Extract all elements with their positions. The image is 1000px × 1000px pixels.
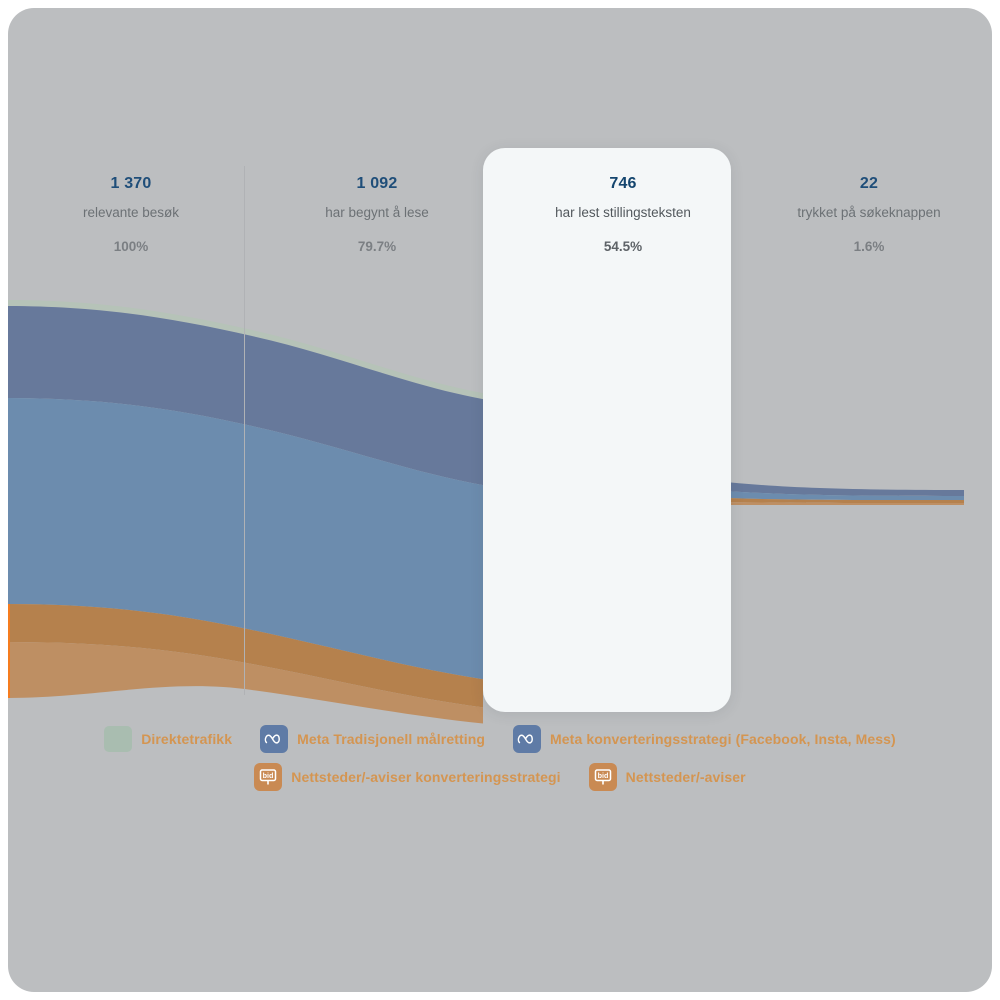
step-label: trykket på søkeknappen — [746, 204, 992, 222]
color-swatch-icon — [104, 726, 132, 752]
bid-icon: bid — [589, 763, 617, 791]
step-value: 1 370 — [8, 174, 254, 194]
step-value: 22 — [746, 174, 992, 194]
step-percent: 100% — [8, 238, 254, 256]
left-edge-accent — [8, 604, 10, 698]
funnel-step-3[interactable]: 746 har lest stillingsteksten 54.5% — [500, 166, 746, 276]
legend-label: Meta Tradisjonell målretting — [297, 731, 485, 747]
step-percent: 54.5% — [500, 238, 746, 256]
legend-item-meta-konvertering[interactable]: Meta konverteringsstrategi (Facebook, In… — [513, 725, 896, 753]
funnel-chart-panel: 1 370 relevante besøk 100% 1 092 har beg… — [8, 8, 992, 992]
step-value: 746 — [500, 174, 746, 194]
bid-icon: bid — [254, 763, 282, 791]
step-value: 1 092 — [254, 174, 500, 194]
step-label: har lest stillingsteksten — [500, 204, 746, 222]
chart-legend: Direktetrafikk Meta Tradisjonell målrett… — [8, 720, 992, 796]
legend-label: Nettsteder/-aviser konverteringsstrategi — [291, 769, 560, 785]
step-label: har begynt å lese — [254, 204, 500, 222]
meta-icon — [260, 725, 288, 753]
svg-text:bid: bid — [597, 771, 608, 780]
legend-row-1: Direktetrafikk Meta Tradisjonell målrett… — [8, 720, 992, 758]
legend-row-2: bid Nettsteder/-aviser konverteringsstra… — [8, 758, 992, 796]
legend-item-nettsteder-aviser[interactable]: bid Nettsteder/-aviser — [589, 763, 746, 791]
legend-label: Meta konverteringsstrategi (Facebook, In… — [550, 731, 896, 747]
legend-item-nettsteder-konvertering[interactable]: bid Nettsteder/-aviser konverteringsstra… — [254, 763, 560, 791]
step-percent: 79.7% — [254, 238, 500, 256]
step-percent: 1.6% — [746, 238, 992, 256]
legend-label: Nettsteder/-aviser — [626, 769, 746, 785]
step-label: relevante besøk — [8, 204, 254, 222]
svg-text:bid: bid — [263, 771, 274, 780]
funnel-step-2[interactable]: 1 092 har begynt å lese 79.7% — [254, 166, 500, 276]
funnel-step-4[interactable]: 22 trykket på søkeknappen 1.6% — [746, 166, 992, 276]
funnel-step-1[interactable]: 1 370 relevante besøk 100% — [8, 166, 254, 276]
funnel-steps: 1 370 relevante besøk 100% 1 092 har beg… — [8, 166, 992, 276]
legend-item-meta-tradisjonell[interactable]: Meta Tradisjonell målretting — [260, 725, 485, 753]
legend-item-direktetrafikk[interactable]: Direktetrafikk — [104, 726, 232, 752]
screenshot-root: 1 370 relevante besøk 100% 1 092 har beg… — [0, 0, 1000, 1000]
meta-icon — [513, 725, 541, 753]
legend-label: Direktetrafikk — [141, 731, 232, 747]
